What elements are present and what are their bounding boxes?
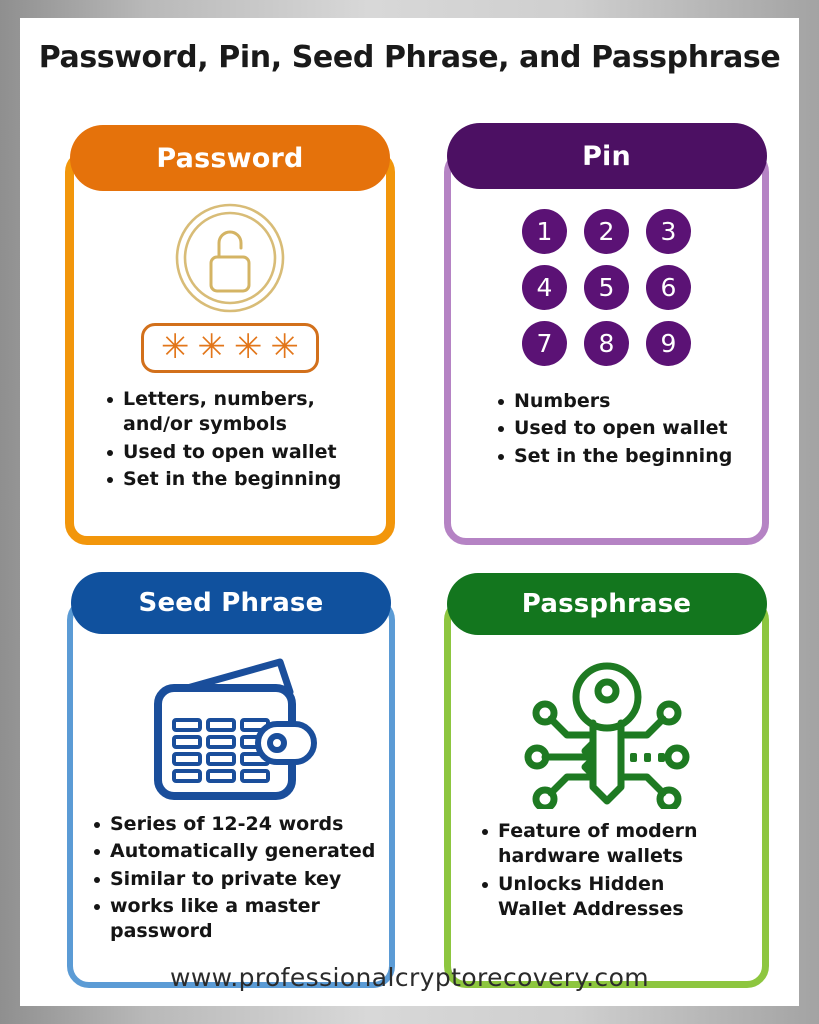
card-pin-title: Pin (582, 141, 631, 172)
card-passphrase-title: Passphrase (522, 589, 691, 619)
card-pin: Pin 1 2 3 4 5 6 7 8 9 Numbers Used to op… (444, 150, 769, 545)
list-item: works like a master password (93, 894, 325, 945)
pin-keypad-icon: 1 2 3 4 5 6 7 8 9 (514, 203, 700, 371)
card-password: Password ✳ ✳ ✳ ✳ Letters, numbers, and/o… (65, 150, 395, 545)
list-item: Used to open wallet (106, 440, 355, 465)
list-item: Set in the beginning (497, 444, 732, 469)
card-seed-phrase-title: Seed Phrase (139, 588, 324, 618)
card-password-body: ✳ ✳ ✳ ✳ Letters, numbers, and/or symbols… (74, 199, 386, 528)
card-pin-body: 1 2 3 4 5 6 7 8 9 Numbers Used to open w… (451, 199, 762, 530)
list-item: Automatically generated (93, 839, 375, 864)
pin-key-4: 4 (522, 265, 567, 310)
mask-char-3: ✳ (234, 330, 263, 364)
card-password-title: Password (156, 143, 303, 174)
pin-key-1: 1 (522, 209, 567, 254)
footer-website: www.professionalcryptorecovery.com (20, 963, 799, 992)
page-title: Password, Pin, Seed Phrase, and Passphra… (20, 40, 799, 75)
list-item: Numbers (497, 389, 732, 414)
card-password-header: Password (70, 125, 390, 191)
list-item: Used to open wallet (497, 416, 732, 441)
pin-key-7: 7 (522, 321, 567, 366)
card-seed-phrase-body: Series of 12-24 words Automatically gene… (73, 642, 389, 974)
wallet-icon (140, 654, 322, 804)
pin-key-5: 5 (584, 265, 629, 310)
list-item: Similar to private key (93, 867, 375, 892)
card-seed-phrase-header: Seed Phrase (71, 572, 391, 634)
card-passphrase: Passphrase (444, 598, 769, 988)
card-passphrase-bullets: Feature of modern hardware wallets Unloc… (481, 819, 706, 924)
pin-key-9: 9 (646, 321, 691, 366)
pin-key-8: 8 (584, 321, 629, 366)
digital-key-icon (523, 657, 691, 809)
list-item: Feature of modern hardware wallets (481, 819, 706, 870)
list-item: Set in the beginning (106, 467, 355, 492)
mask-char-1: ✳ (161, 330, 190, 364)
card-seed-phrase-bullets: Series of 12-24 words Automatically gene… (93, 812, 375, 946)
card-passphrase-header: Passphrase (447, 573, 767, 635)
mask-char-4: ✳ (271, 330, 300, 364)
list-item: Letters, numbers, and/or symbols (106, 387, 355, 438)
card-password-bullets: Letters, numbers, and/or symbols Used to… (106, 387, 355, 494)
infographic-page: Password, Pin, Seed Phrase, and Passphra… (20, 18, 799, 1006)
card-pin-bullets: Numbers Used to open wallet Set in the b… (497, 389, 732, 471)
password-masked-field: ✳ ✳ ✳ ✳ (141, 323, 319, 373)
card-pin-header: Pin (447, 123, 767, 189)
pin-key-6: 6 (646, 265, 691, 310)
pin-key-2: 2 (584, 209, 629, 254)
card-passphrase-body: Feature of modern hardware wallets Unloc… (451, 643, 762, 973)
pin-key-3: 3 (646, 209, 691, 254)
open-padlock-icon (171, 199, 289, 317)
mask-char-2: ✳ (198, 330, 227, 364)
list-item: Unlocks Hidden Wallet Addresses (481, 872, 688, 923)
list-item: Series of 12-24 words (93, 812, 375, 837)
card-seed-phrase: Seed Phrase (67, 598, 395, 988)
